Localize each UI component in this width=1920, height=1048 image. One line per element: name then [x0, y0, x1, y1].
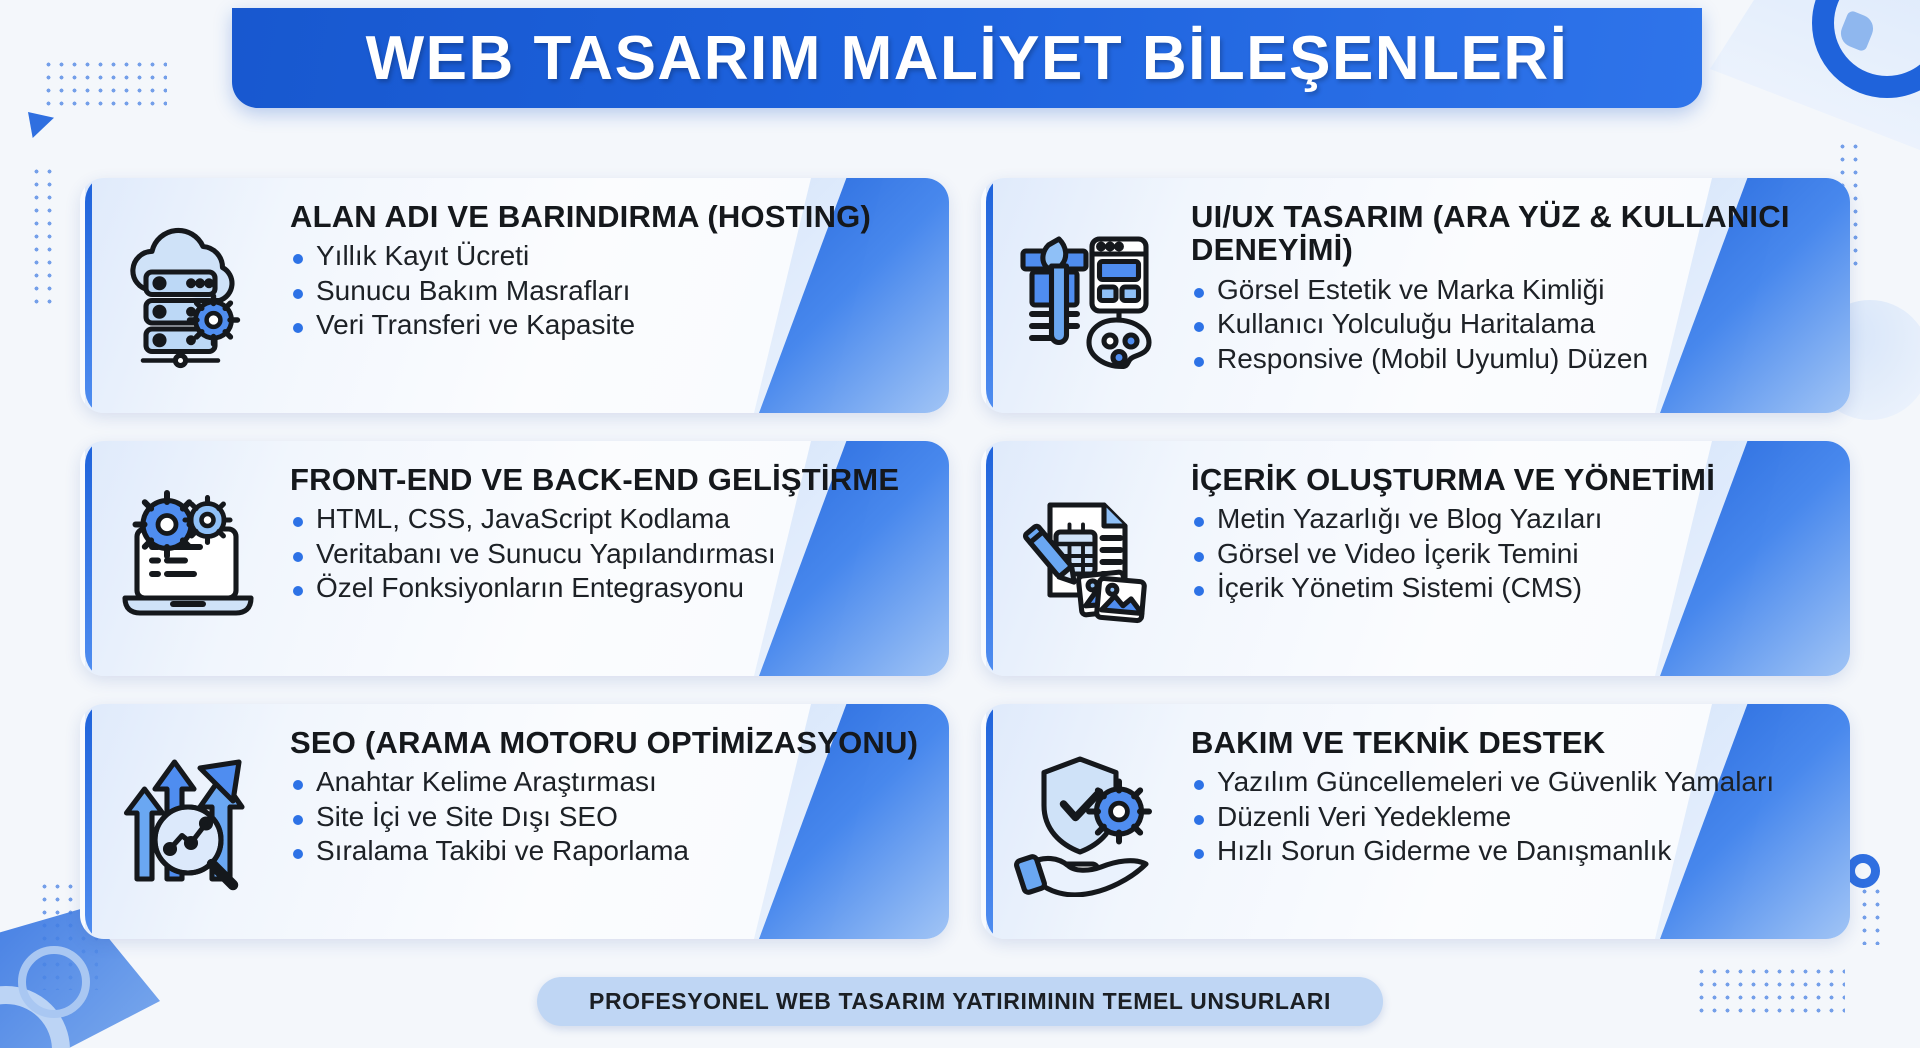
card-body: ALAN ADI VE BARINDIRMA (HOSTING) Yıllık …: [290, 178, 949, 343]
card-bakim-teknik-destek[interactable]: BAKIM VE TEKNİK DESTEK Yazılım Güncellem…: [981, 704, 1850, 939]
card-body: FRONT-END VE BACK-END GELİŞTİRME HTML, C…: [290, 441, 949, 606]
dot-pattern-left: [30, 165, 52, 305]
card-grid: ALAN ADI VE BARINDIRMA (HOSTING) Yıllık …: [80, 178, 1850, 939]
list-item: İçerik Yönetim Sistemi (CMS): [1191, 571, 1820, 605]
growth-arrows-magnifier-icon: [85, 704, 290, 939]
card-body: BAKIM VE TEKNİK DESTEK Yazılım Güncellem…: [1191, 704, 1850, 869]
list-item: Responsive (Mobil Uyumlu) Düzen: [1191, 342, 1820, 376]
card-title: İÇERİK OLUŞTURMA VE YÖNETİMİ: [1191, 463, 1820, 496]
list-item: Veritabanı ve Sunucu Yapılandırması: [290, 537, 919, 571]
list-item: Anahtar Kelime Araştırması: [290, 765, 919, 799]
list-item: Görsel ve Video İçerik Temini: [1191, 537, 1820, 571]
card-title: UI/UX TASARIM (ARA YÜZ & KULLANICI DENEY…: [1191, 200, 1820, 267]
dot-pattern-bottom-right: [1695, 965, 1845, 1020]
laptop-code-gears-icon: [85, 441, 290, 676]
list-item: Kullanıcı Yolculuğu Haritalama: [1191, 307, 1820, 341]
list-item: Sunucu Bakım Masrafları: [290, 274, 919, 308]
dot-pattern-bottom-right-small: [1858, 885, 1880, 945]
card-front-end-back-end-gelistirme[interactable]: FRONT-END VE BACK-END GELİŞTİRME HTML, C…: [80, 441, 949, 676]
card-bullet-list: Metin Yazarlığı ve Blog Yazıları Görsel …: [1191, 502, 1820, 605]
card-body: İÇERİK OLUŞTURMA VE YÖNETİMİ Metin Yazar…: [1191, 441, 1850, 606]
card-title: BAKIM VE TEKNİK DESTEK: [1191, 726, 1820, 759]
card-alan-adi-barindirma[interactable]: ALAN ADI VE BARINDIRMA (HOSTING) Yıllık …: [80, 178, 949, 413]
card-icerik-olusturma-yonetimi[interactable]: İÇERİK OLUŞTURMA VE YÖNETİMİ Metin Yazar…: [981, 441, 1850, 676]
card-bullet-list: HTML, CSS, JavaScript Kodlama Veritabanı…: [290, 502, 919, 605]
page-title: WEB TASARIM MALİYET BİLEŞENLERİ: [366, 23, 1569, 94]
card-body: SEO (ARAMA MOTORU OPTİMİZASYONU) Anahtar…: [290, 704, 949, 869]
triangle-shape-top-left: [28, 112, 54, 138]
list-item: Site İçi ve Site Dışı SEO: [290, 800, 919, 834]
list-item: Metin Yazarlığı ve Blog Yazıları: [1191, 502, 1820, 536]
list-item: Sıralama Takibi ve Raporlama: [290, 834, 919, 868]
card-bullet-list: Yıllık Kayıt Ücreti Sunucu Bakım Masrafl…: [290, 239, 919, 342]
list-item: HTML, CSS, JavaScript Kodlama: [290, 502, 919, 536]
list-item: Yazılım Güncellemeleri ve Güvenlik Yamal…: [1191, 765, 1820, 799]
cloud-server-gear-icon: [85, 178, 290, 413]
card-seo-arama-motoru-optimizasyonu[interactable]: SEO (ARAMA MOTORU OPTİMİZASYONU) Anahtar…: [80, 704, 949, 939]
circle-outline-bottom-left: [18, 946, 90, 1018]
list-item: Düzenli Veri Yedekleme: [1191, 800, 1820, 834]
dot-pattern-top-left: [42, 58, 167, 106]
list-item: Veri Transferi ve Kapasite: [290, 308, 919, 342]
title-banner: WEB TASARIM MALİYET BİLEŞENLERİ: [232, 8, 1702, 108]
ring-shape-top-right: [1812, 0, 1920, 98]
corner-shape-top-right: [1710, 0, 1920, 150]
document-pen-calendar-icon: [986, 441, 1191, 676]
card-bullet-list: Anahtar Kelime Araştırması Site İçi ve S…: [290, 765, 919, 868]
diamond-shape-top-right: [1837, 10, 1878, 53]
card-bullet-list: Görsel Estetik ve Marka Kimliği Kullanıc…: [1191, 273, 1820, 376]
footer-tagline: PROFESYONEL WEB TASARIM YATIRIMININ TEME…: [537, 977, 1383, 1026]
card-ui-ux-tasarim[interactable]: UI/UX TASARIM (ARA YÜZ & KULLANICI DENEY…: [981, 178, 1850, 413]
shield-gear-hand-icon: [986, 704, 1191, 939]
card-bullet-list: Yazılım Güncellemeleri ve Güvenlik Yamal…: [1191, 765, 1820, 868]
list-item: Özel Fonksiyonların Entegrasyonu: [290, 571, 919, 605]
card-title: SEO (ARAMA MOTORU OPTİMİZASYONU): [290, 726, 919, 759]
ring-shape-bottom-left: [0, 986, 70, 1048]
card-title: FRONT-END VE BACK-END GELİŞTİRME: [290, 463, 919, 496]
list-item: Yıllık Kayıt Ücreti: [290, 239, 919, 273]
card-body: UI/UX TASARIM (ARA YÜZ & KULLANICI DENEY…: [1191, 178, 1850, 376]
paintbrush-palette-wireframe-icon: [986, 178, 1191, 413]
card-title: ALAN ADI VE BARINDIRMA (HOSTING): [290, 200, 919, 233]
list-item: Görsel Estetik ve Marka Kimliği: [1191, 273, 1820, 307]
ring-shape-right: [1846, 854, 1880, 888]
list-item: Hızlı Sorun Giderme ve Danışmanlık: [1191, 834, 1820, 868]
